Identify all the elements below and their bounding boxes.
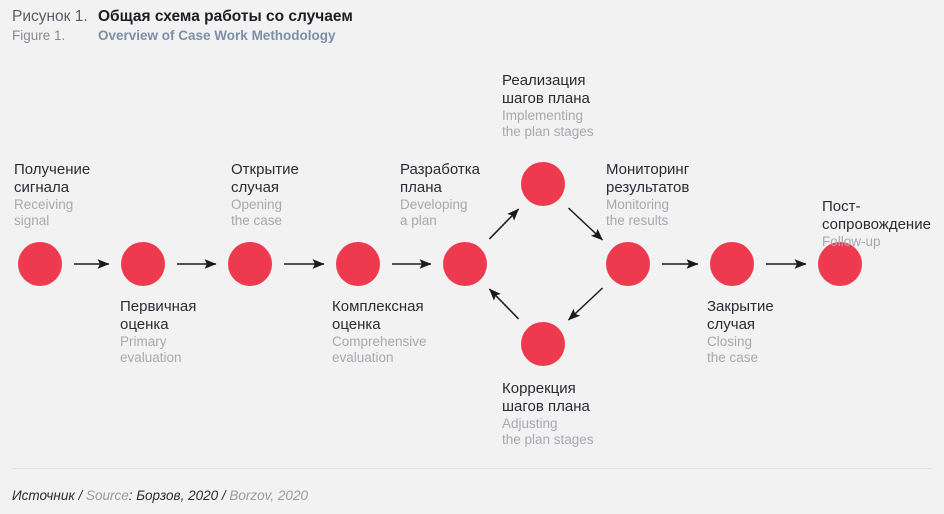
label-opening: ОткрытиеслучаяOpeningthe case	[231, 161, 299, 229]
source-citation-ru: Борзов, 2020	[136, 488, 222, 503]
label-en-line: Opening	[231, 197, 299, 213]
label-en-line: Implementing	[502, 108, 594, 124]
source-note: Источник / Source: Борзов, 2020 / Borzov…	[12, 488, 308, 503]
node-adjusting[interactable]	[521, 322, 565, 366]
source-citation-en: Borzov, 2020	[229, 488, 308, 503]
node-closing[interactable]	[710, 242, 754, 286]
label-en-line: Adjusting	[502, 416, 594, 432]
label-en-line: Developing	[400, 197, 480, 213]
arrow-developing-to-implementing	[489, 209, 518, 239]
source-label-ru: Источник /	[12, 488, 86, 503]
label-en-line: evaluation	[120, 350, 196, 366]
footer-divider	[12, 468, 932, 469]
label-monitoring: МониторингрезультатовMonitoringthe resul…	[606, 161, 689, 229]
label-ru-line: оценка	[120, 316, 196, 334]
label-en-line: the plan stages	[502, 432, 594, 448]
label-en-line: the case	[231, 213, 299, 229]
label-closing: ЗакрытиеслучаяClosingthe case	[707, 298, 774, 366]
label-en-line: Primary	[120, 334, 196, 350]
label-ru-line: Пост-	[822, 198, 931, 216]
label-ru-line: Разработка	[400, 161, 480, 179]
node-implementing[interactable]	[521, 162, 565, 206]
label-implementing: Реализацияшагов планаImplementingthe pla…	[502, 72, 594, 140]
arrow-implementing-to-monitoring	[568, 208, 602, 240]
label-ru-line: случая	[231, 179, 299, 197]
label-en-line: the results	[606, 213, 689, 229]
label-en-line: Comprehensive	[332, 334, 427, 350]
label-ru-line: сигнала	[14, 179, 90, 197]
label-adjusting: Коррекцияшагов планаAdjustingthe plan st…	[502, 380, 594, 448]
label-ru-line: шагов плана	[502, 398, 594, 416]
label-ru-line: случая	[707, 316, 774, 334]
arrow-monitoring-to-adjusting	[568, 288, 602, 320]
node-primary[interactable]	[121, 242, 165, 286]
label-en-line: a plan	[400, 213, 480, 229]
source-label-en: Source	[86, 488, 129, 503]
label-ru-line: Закрытие	[707, 298, 774, 316]
label-ru-line: плана	[400, 179, 480, 197]
label-ru-line: Получение	[14, 161, 90, 179]
label-receiving: ПолучениесигналаReceivingsignal	[14, 161, 90, 229]
label-en-line: Receiving	[14, 197, 90, 213]
node-receiving[interactable]	[18, 242, 62, 286]
node-developing[interactable]	[443, 242, 487, 286]
label-comprehensive: КомплекснаяоценкаComprehensiveevaluation	[332, 298, 427, 366]
label-ru-line: Открытие	[231, 161, 299, 179]
label-primary: ПервичнаяоценкаPrimaryevaluation	[120, 298, 196, 366]
label-ru-line: Коррекция	[502, 380, 594, 398]
diagram-canvas: ПолучениесигналаReceivingsignalПервичная…	[0, 0, 944, 514]
label-en-line: the case	[707, 350, 774, 366]
label-ru-line: Комплексная	[332, 298, 427, 316]
label-ru-line: сопровождение	[822, 216, 931, 234]
label-en-line: the plan stages	[502, 124, 594, 140]
label-en-line: Follow-up	[822, 234, 931, 250]
label-en-line: Closing	[707, 334, 774, 350]
label-en-line: Monitoring	[606, 197, 689, 213]
label-en-line: evaluation	[332, 350, 427, 366]
arrow-adjusting-to-developing	[489, 289, 518, 319]
node-opening[interactable]	[228, 242, 272, 286]
node-comprehensive[interactable]	[336, 242, 380, 286]
label-followup: Пост-сопровождениеFollow-up	[822, 198, 931, 250]
node-monitoring[interactable]	[606, 242, 650, 286]
label-ru-line: результатов	[606, 179, 689, 197]
label-ru-line: шагов плана	[502, 90, 594, 108]
label-ru-line: оценка	[332, 316, 427, 334]
label-ru-line: Реализация	[502, 72, 594, 90]
label-ru-line: Первичная	[120, 298, 196, 316]
label-en-line: signal	[14, 213, 90, 229]
label-developing: РазработкапланаDevelopinga plan	[400, 161, 480, 229]
label-ru-line: Мониторинг	[606, 161, 689, 179]
